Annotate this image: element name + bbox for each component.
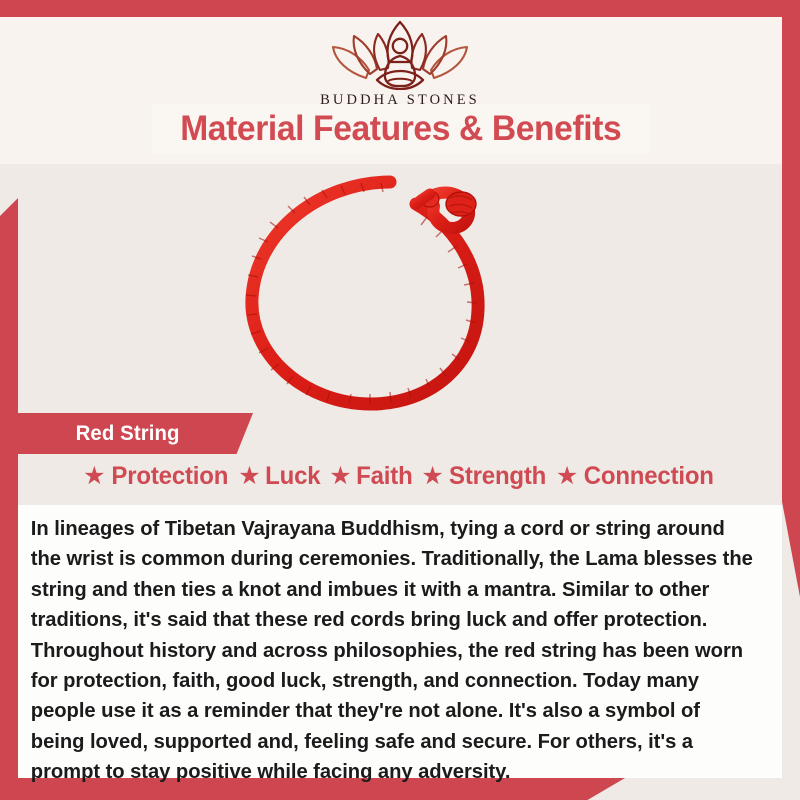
top-red-bar bbox=[0, 0, 800, 17]
lotus-meditation-logo-icon bbox=[325, 18, 475, 90]
feature-label: Protection bbox=[111, 462, 228, 491]
star-icon: ★ bbox=[238, 464, 260, 489]
description-paragraph: In lineages of Tibetan Vajrayana Buddhis… bbox=[18, 505, 771, 788]
feature-item-faith: ★ Faith bbox=[325, 462, 417, 491]
description-panel: In lineages of Tibetan Vajrayana Buddhis… bbox=[18, 505, 782, 778]
feature-label: Faith bbox=[356, 462, 412, 491]
star-icon: ★ bbox=[329, 464, 351, 489]
page-title-band: Material Features & Benefits bbox=[152, 104, 650, 154]
feature-label: Luck bbox=[265, 462, 320, 491]
product-image-area bbox=[18, 164, 782, 420]
star-icon: ★ bbox=[421, 464, 443, 489]
material-name-tag: Red String bbox=[18, 413, 253, 454]
material-name-label: Red String bbox=[76, 422, 180, 446]
feature-label: Strength bbox=[449, 462, 546, 491]
feature-label: Connection bbox=[584, 462, 714, 491]
feature-item-strength: ★ Strength bbox=[417, 462, 552, 491]
star-icon: ★ bbox=[556, 464, 578, 489]
page-title: Material Features & Benefits bbox=[180, 109, 621, 149]
feature-item-protection: ★ Protection bbox=[79, 462, 234, 491]
feature-list: ★ Protection ★ Luck ★ Faith ★ Strength ★… bbox=[18, 462, 782, 491]
red-string-bracelet-image bbox=[230, 168, 520, 420]
infographic-page: BUDDHA STONES Material Features & Benefi… bbox=[0, 0, 800, 800]
left-red-ribbon bbox=[0, 198, 18, 800]
feature-item-connection: ★ Connection bbox=[552, 462, 721, 491]
star-icon: ★ bbox=[83, 464, 105, 489]
feature-item-luck: ★ Luck bbox=[234, 462, 325, 491]
brand-logo: BUDDHA STONES bbox=[0, 18, 800, 109]
